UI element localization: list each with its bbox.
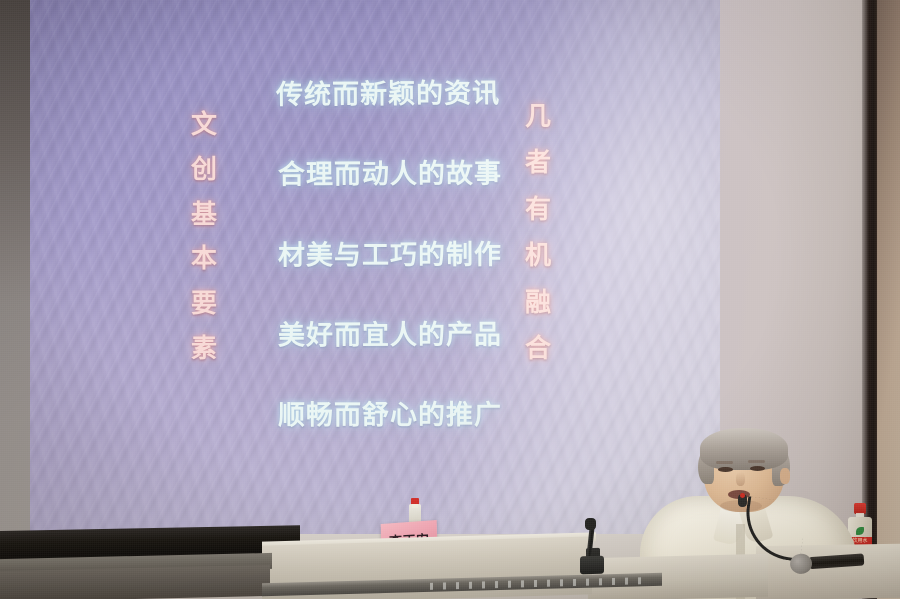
speaker-ear [780, 468, 790, 484]
desk-left-shadow [0, 565, 270, 599]
slide-content: 文 创 基 本 要 素 传统而新颖的资讯 合理而动人的故事 材美与工巧的制作 美… [30, 0, 720, 534]
lecture-photo-scene: 文 创 基 本 要 素 传统而新颖的资讯 合理而动人的故事 材美与工巧的制作 美… [0, 0, 900, 599]
left-heading-char-2: 基 [191, 202, 217, 228]
desk-mic-head-icon [585, 518, 596, 530]
eye-left [718, 467, 733, 472]
handheld-mic-grille-icon [789, 553, 812, 574]
left-wall-panel [0, 0, 30, 543]
slide-line-2: 合理而动人的故事 [240, 151, 540, 192]
slide-line-5: 顺畅而舒心的推广 [240, 393, 540, 433]
right-heading-char-1: 者 [525, 150, 551, 176]
slide-left-vertical-heading: 文 创 基 本 要 素 [186, 112, 222, 362]
nose [736, 472, 745, 486]
projection-screen: 文 创 基 本 要 素 传统而新颖的资讯 合理而动人的故事 材美与工巧的制作 美… [30, 0, 720, 534]
far-right-wall [877, 0, 900, 599]
left-heading-char-4: 要 [191, 291, 217, 317]
mic-indicator-light [740, 493, 745, 498]
right-heading-char-4: 融 [525, 290, 551, 316]
desk-mic-base [580, 556, 604, 575]
right-heading-char-0: 几 [525, 104, 551, 130]
right-heading-char-5: 合 [525, 336, 551, 362]
slide-right-vertical-heading: 几 者 有 机 融 合 [520, 104, 556, 362]
slide-line-1: 传统而新颖的资讯 [238, 71, 538, 112]
handheld-mic-body [809, 553, 865, 569]
eyebrow-right [748, 460, 765, 463]
eye-right [750, 466, 765, 471]
left-heading-char-5: 素 [191, 336, 217, 362]
slide-line-3: 材美与工巧的制作 [240, 232, 540, 272]
left-heading-char-1: 创 [191, 157, 217, 183]
right-heading-char-2: 有 [525, 197, 551, 223]
eyebrow-left [716, 461, 733, 464]
speaker-hair [700, 428, 788, 470]
right-heading-char-3: 机 [525, 243, 551, 269]
slide-bullet-lines: 传统而新颖的资讯 合理而动人的故事 材美与工巧的制作 美好而宜人的产品 顺畅而舒… [226, 72, 526, 432]
left-heading-char-3: 本 [191, 246, 217, 272]
slide-line-4: 美好而宜人的产品 [240, 312, 540, 352]
left-heading-char-0: 文 [191, 112, 217, 138]
